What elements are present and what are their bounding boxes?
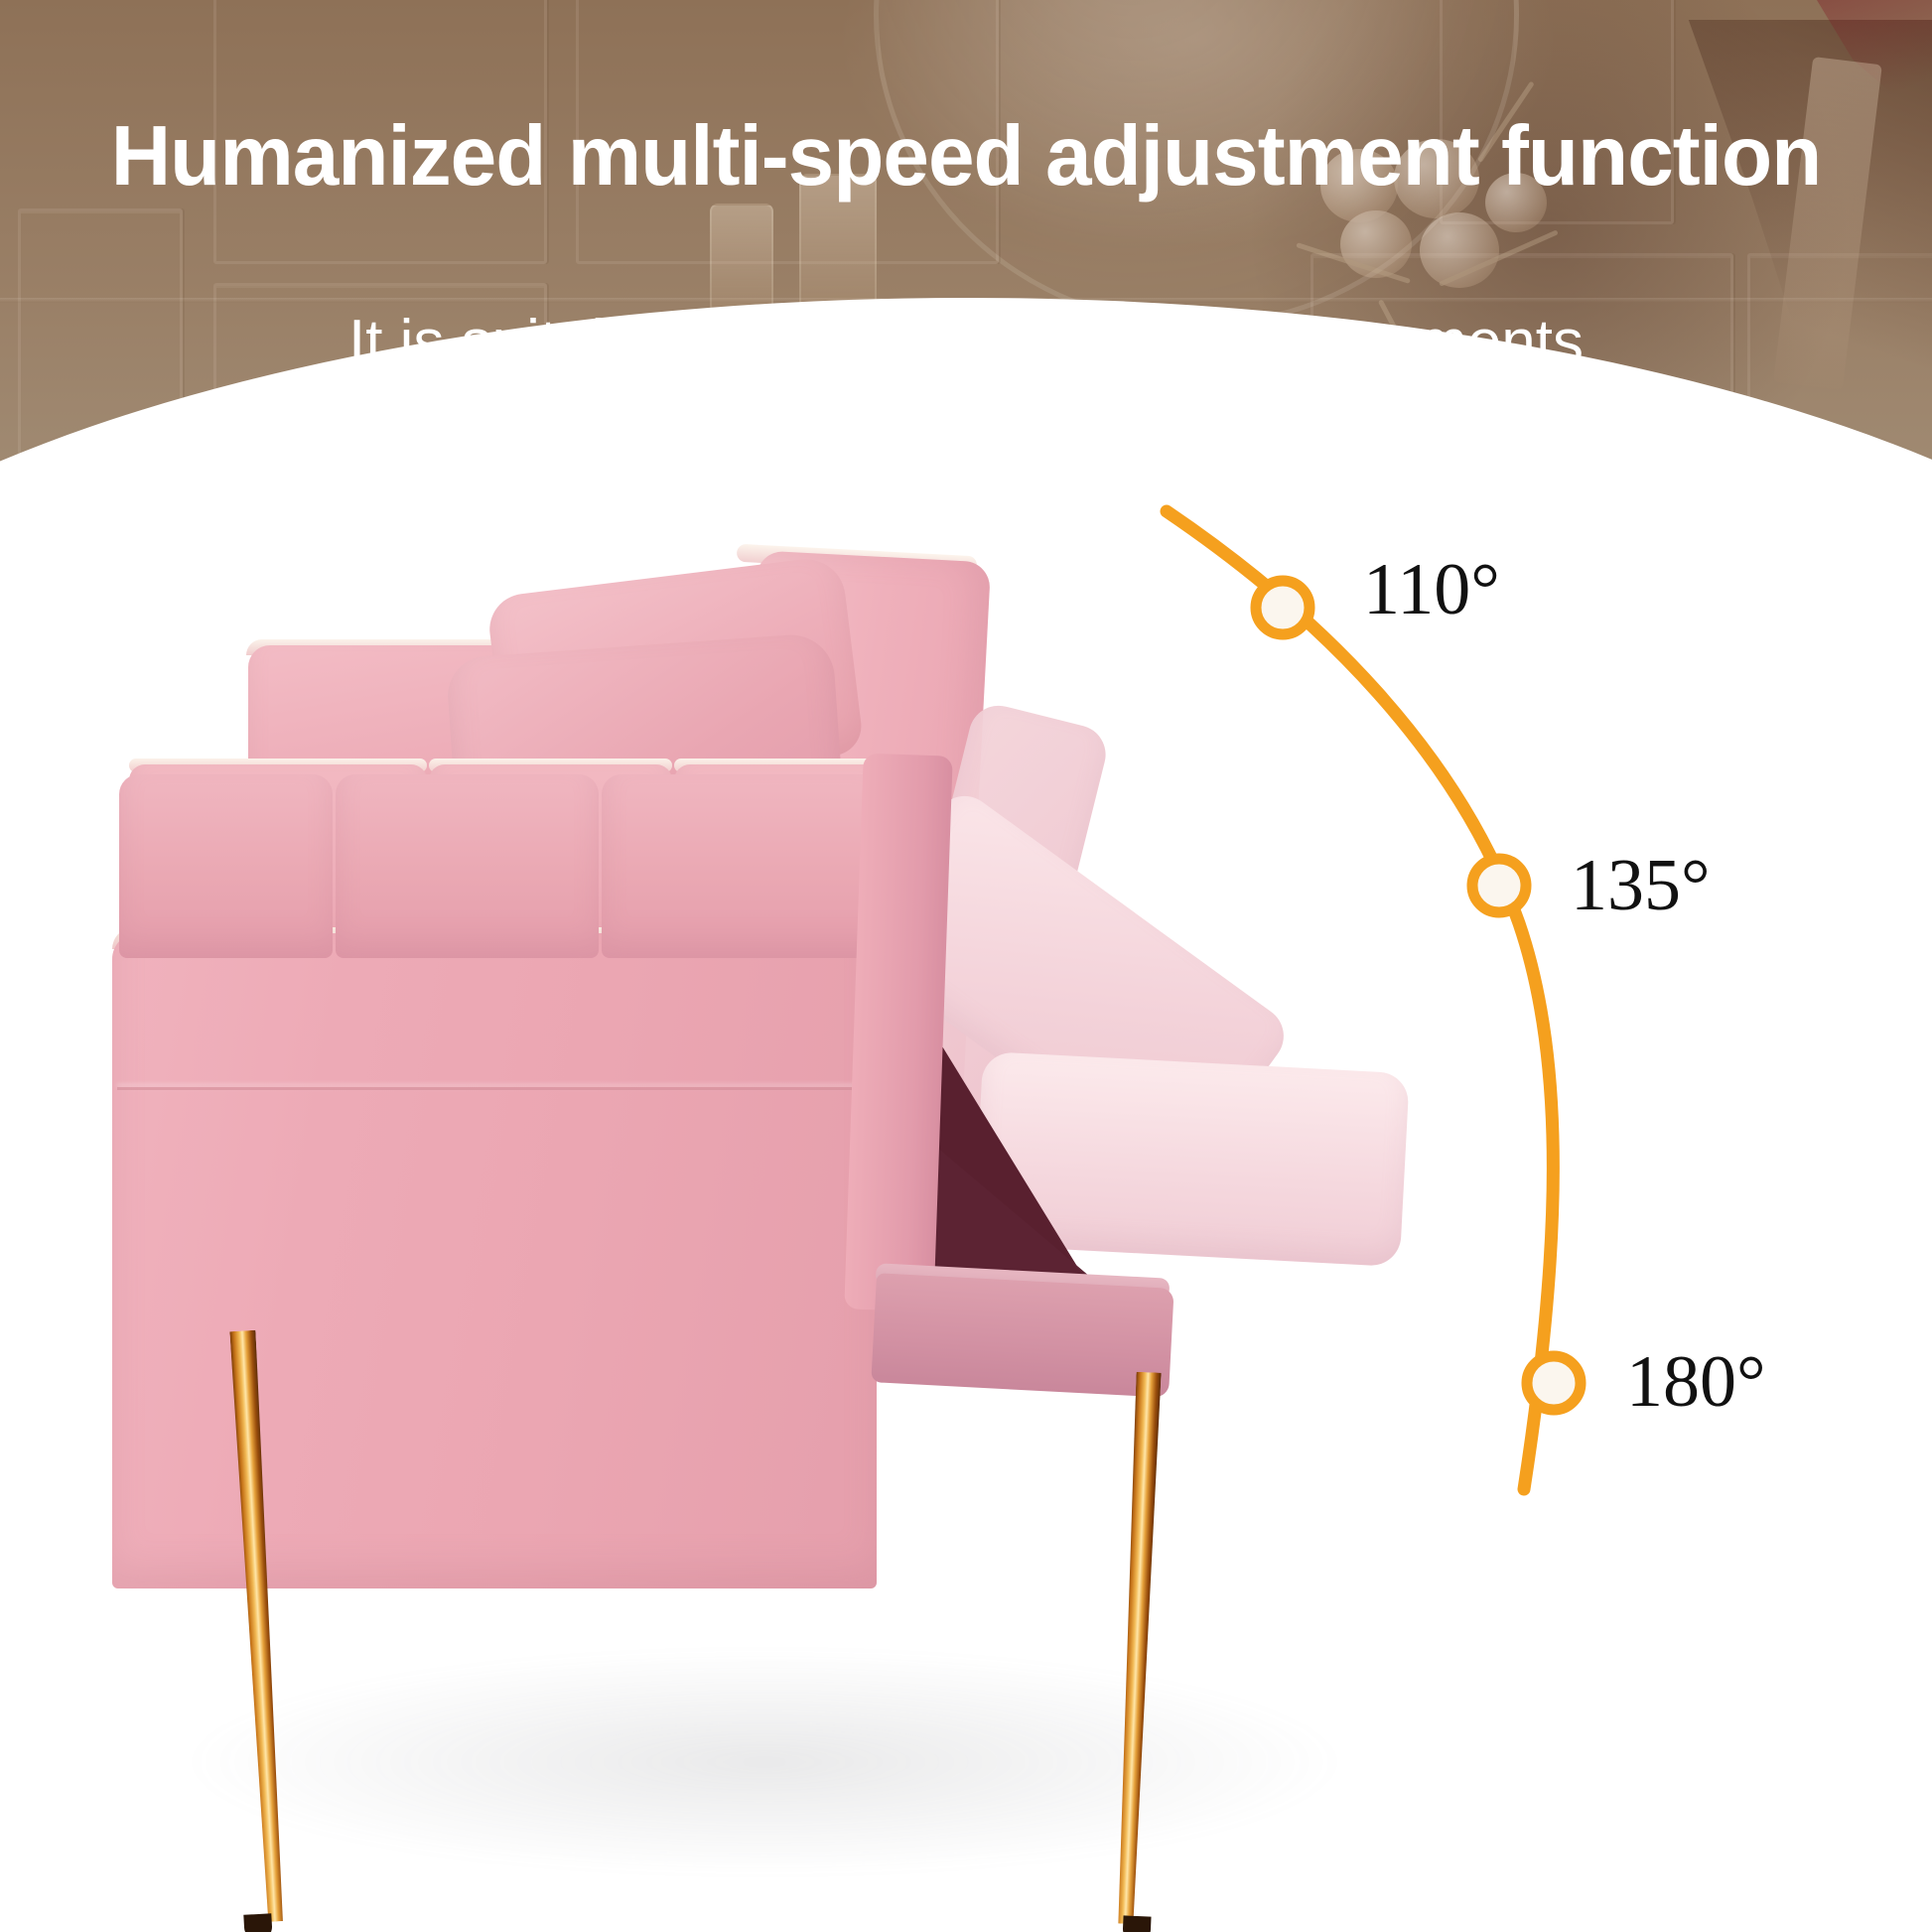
page-subtitle: It is suitable for a variety of use envi… xyxy=(0,309,1932,376)
back-panel-seam xyxy=(117,1087,870,1090)
seat-cushion-2 xyxy=(336,774,599,958)
seat-base-slab xyxy=(871,1273,1173,1398)
glass-vase-decor xyxy=(710,204,773,317)
leg-tip-front-right xyxy=(1122,1915,1151,1932)
angle-label-110: 110° xyxy=(1363,553,1500,626)
floor-shadow xyxy=(179,1648,1350,1876)
sofa-product-image xyxy=(0,635,1932,1932)
angle-label-135: 135° xyxy=(1571,849,1711,922)
sofa-back-panel xyxy=(112,933,877,1588)
seat-cushion-3 xyxy=(602,774,890,958)
seat-cushion-1 xyxy=(119,774,333,958)
angle-label-180: 180° xyxy=(1626,1345,1766,1419)
page-title: Humanized multi-speed adjustment functio… xyxy=(15,112,1918,201)
product-feature-banner: Humanized multi-speed adjustment functio… xyxy=(0,0,1932,1932)
leg-tip-front-left xyxy=(243,1913,272,1932)
